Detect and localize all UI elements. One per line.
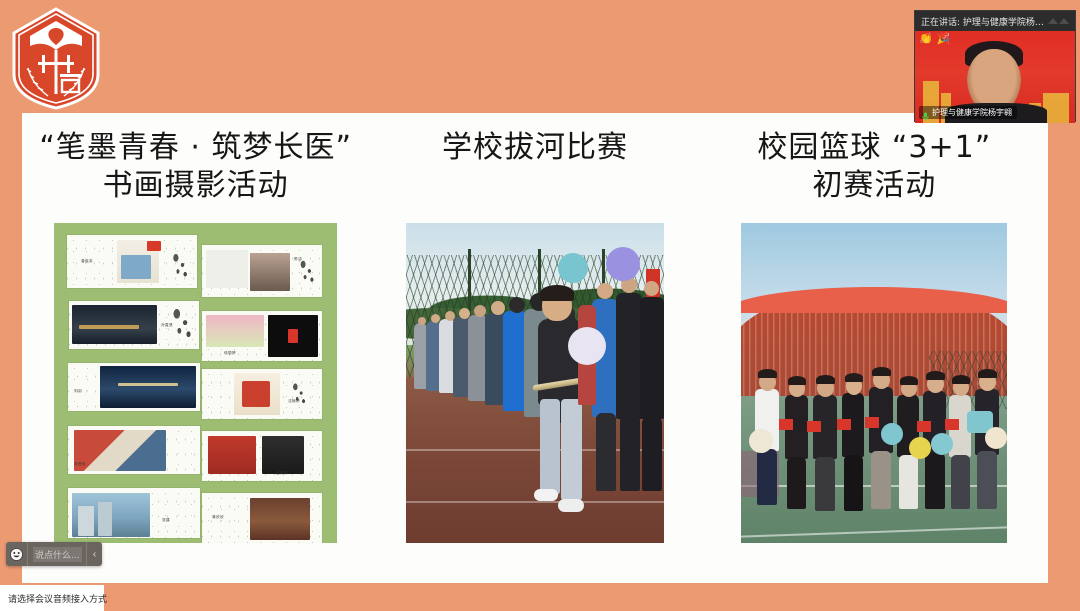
calligraphy-photography-exhibition-board: 曾晓芙 陈洁 xyxy=(26,223,365,543)
slide-column-calligraphy: “笔墨青春 · 筑梦长医” 书画摄影活动 曾晓芙 xyxy=(26,123,365,569)
tug-of-war-photo-image xyxy=(406,223,664,543)
chevrons-collapse-icon[interactable] xyxy=(1046,15,1072,27)
reaction-emojis: 👏 🎉 xyxy=(919,34,950,45)
exhibition-board-photo: 曾晓芙 陈洁 xyxy=(54,223,337,543)
slide-column-tugofwar: 学校拔河比赛 xyxy=(365,123,704,569)
chat-input-bar[interactable]: 说点什么... ‹ xyxy=(6,542,102,566)
chat-input-placeholder: 说点什么... xyxy=(33,547,82,562)
slide-title-basketball: 校园篮球 “3+1” 初赛活动 xyxy=(757,129,991,205)
chat-message-input[interactable]: 说点什么... xyxy=(28,542,86,566)
clap-emoji: 👏 xyxy=(919,34,933,45)
campus-basketball-team-photo xyxy=(705,223,1044,543)
participant-name-text: 护理与健康学院杨宇翱 xyxy=(932,107,1012,118)
presentation-slide: “笔墨青春 · 筑梦长医” 书画摄影活动 曾晓芙 xyxy=(22,113,1048,583)
participant-name-badge: 护理与健康学院杨宇翱 xyxy=(919,106,1017,119)
video-feed[interactable]: 👏 🎉 护理与健康学院杨宇翱 xyxy=(915,31,1075,123)
celebrate-emoji: 🎉 xyxy=(937,34,951,45)
video-header-bar: 正在讲话: 护理与健康学院杨宇... xyxy=(915,11,1075,31)
speaker-video-thumbnail[interactable]: 正在讲话: 护理与健康学院杨宇... 👏 🎉 xyxy=(914,10,1076,122)
emoji-icon[interactable] xyxy=(6,542,28,566)
meeting-screen-share-stage: “笔墨青春 · 筑梦长医” 书画摄影活动 曾晓芙 xyxy=(0,0,1080,611)
audio-join-prompt-text: 请选择会议音频接入方式 xyxy=(8,592,107,605)
chat-collapse-chevron-icon[interactable]: ‹ xyxy=(86,542,102,566)
slide-column-basketball: 校园篮球 “3+1” 初赛活动 xyxy=(705,123,1044,569)
zhongqiao-school-emblem xyxy=(8,6,104,111)
slide-title-calligraphy: “笔墨青春 · 筑梦长医” 书画摄影活动 xyxy=(39,129,352,205)
slide-title-tugofwar: 学校拔河比赛 xyxy=(442,129,628,167)
active-speaker-label: 正在讲话: 护理与健康学院杨宇... xyxy=(921,15,1046,28)
basketball-photo-image xyxy=(741,223,1007,543)
microphone-icon xyxy=(922,108,929,117)
tug-of-war-competition-photo xyxy=(365,223,704,543)
audio-join-prompt[interactable]: 请选择会议音频接入方式 xyxy=(0,585,104,611)
